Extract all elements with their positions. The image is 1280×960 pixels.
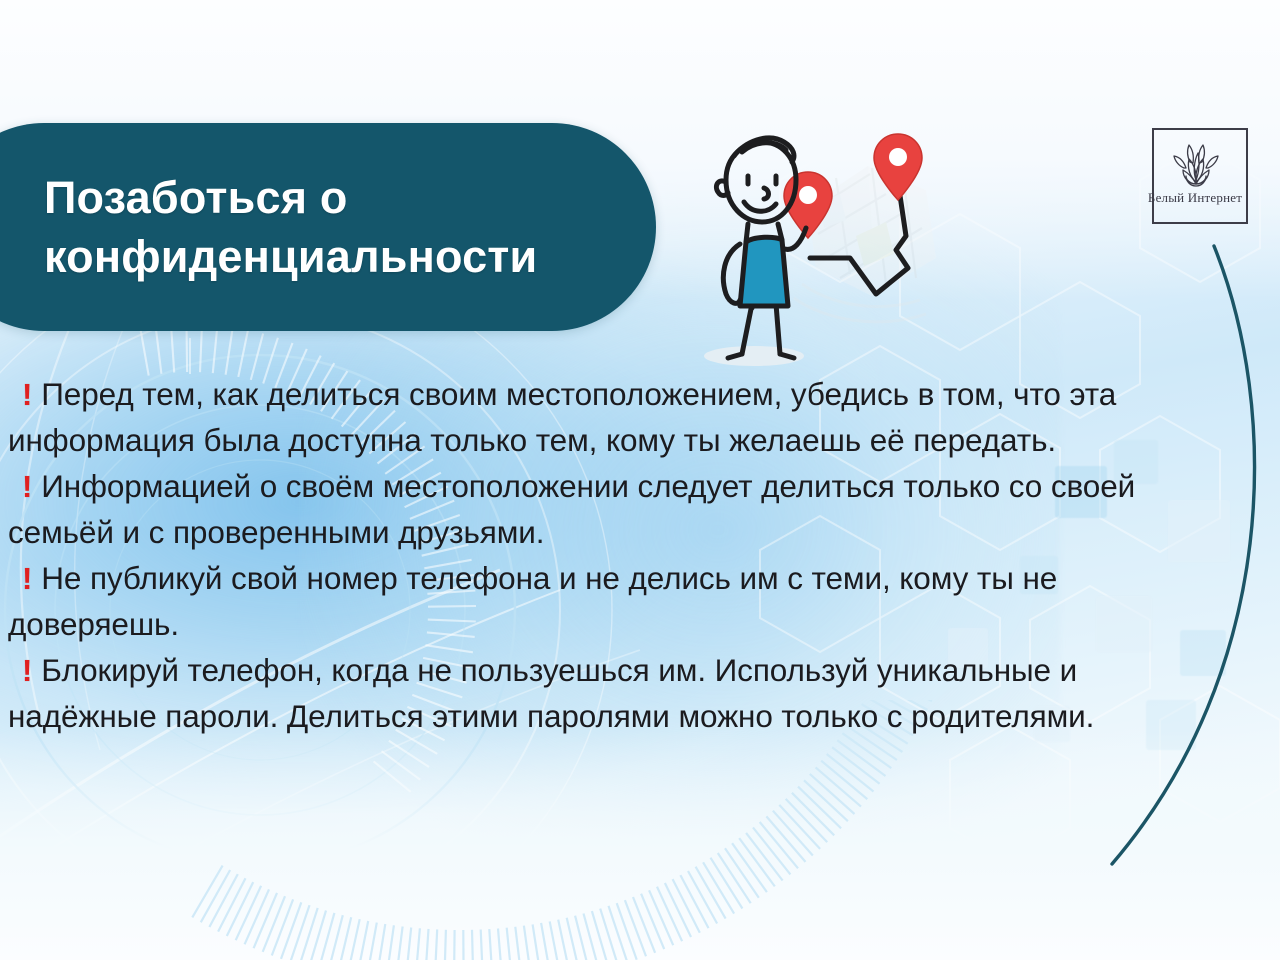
bullet-item: !Блокируй телефон, когда не пользуешься … <box>8 648 1154 739</box>
bullet-item: !Информацией о своём местоположении след… <box>8 464 1154 555</box>
boy-shirt <box>740 237 788 306</box>
slide-canvas: Позаботься о конфиденциальности <box>0 0 1280 960</box>
lotus-flower-icon <box>1170 142 1222 190</box>
warning-exclamation-icon: ! <box>22 377 32 412</box>
page-title: Позаботься о конфиденциальности <box>0 168 565 287</box>
boy-with-map-illustration <box>690 108 946 370</box>
warning-exclamation-icon: ! <box>22 561 32 596</box>
bullet-item: !Перед тем, как делиться своим местополо… <box>8 372 1154 463</box>
logo-caption: Белый Интернет <box>1120 190 1270 206</box>
bullet-list: !Перед тем, как делиться своим местополо… <box>8 372 1154 740</box>
title-banner: Позаботься о конфиденциальности <box>0 123 656 331</box>
bottom-fade-overlay <box>0 730 1280 960</box>
bullet-text: Информацией о своём местоположении следу… <box>8 468 1135 550</box>
bullet-text: Перед тем, как делиться своим местополож… <box>8 376 1116 458</box>
logo: Белый Интернет <box>1152 128 1248 224</box>
bullet-text: Не публикуй свой номер телефона и не дел… <box>8 560 1057 642</box>
warning-exclamation-icon: ! <box>22 653 32 688</box>
warning-exclamation-icon: ! <box>22 469 32 504</box>
bullet-item: !Не публикуй свой номер телефона и не де… <box>8 556 1154 647</box>
bullet-text: Блокируй телефон, когда не пользуешься и… <box>8 652 1094 734</box>
